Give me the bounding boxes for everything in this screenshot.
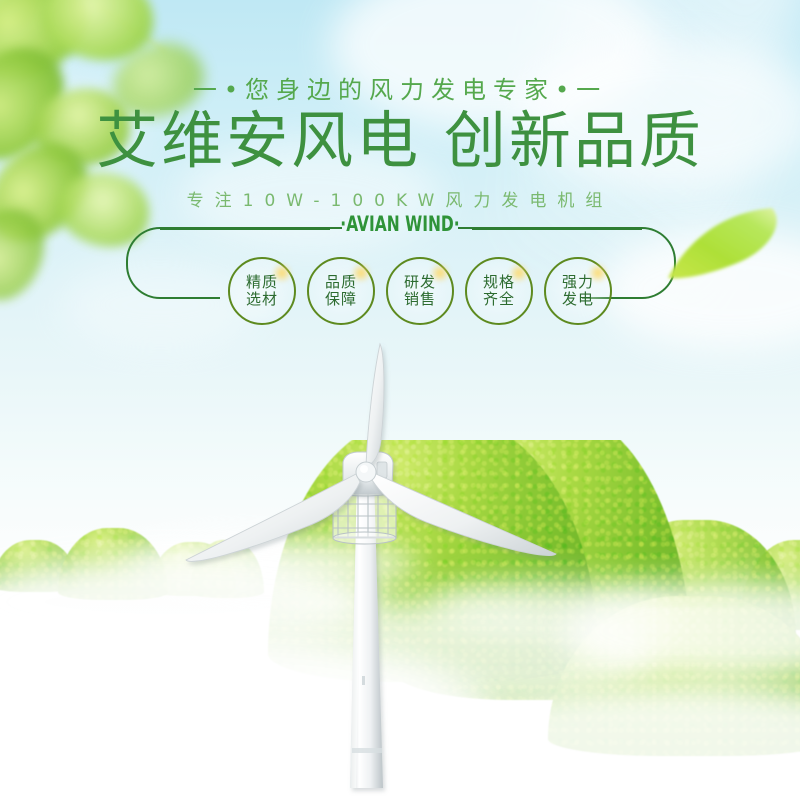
feature-badge[interactable]: 研发 销售 [386,257,454,325]
badge-line-2: 保障 [325,291,357,308]
badge-line-1: 品质 [325,274,357,291]
badge-line-1: 规格 [483,274,515,291]
bracket-top-line-right [458,227,584,229]
banner-tagline: 一•您身边的风力发电专家•一 [0,70,800,105]
feature-badge[interactable]: 规格 齐全 [465,257,533,325]
badge-line-2: 选材 [246,291,278,308]
banner-canvas: 一•您身边的风力发电专家•一 艾维安风电 创新品质 专注10W-100KW风力发… [0,0,800,800]
badge-line-2: 销售 [404,291,436,308]
badge-line-2: 发电 [562,291,594,308]
badge-line-1: 强力 [562,274,594,291]
leaf-decoration [660,198,800,290]
green-hills [0,440,800,800]
badge-line-1: 研发 [404,274,436,291]
feature-badge[interactable]: 强力 发电 [544,257,612,325]
bracket-top-line-left [216,227,342,229]
feature-badge[interactable]: 品质 保障 [307,257,375,325]
feature-badge[interactable]: 精质 选材 [228,257,296,325]
badge-line-1: 精质 [246,274,278,291]
badge-line-2: 齐全 [483,291,515,308]
banner-title: 艾维安风电 创新品质 [0,108,800,173]
